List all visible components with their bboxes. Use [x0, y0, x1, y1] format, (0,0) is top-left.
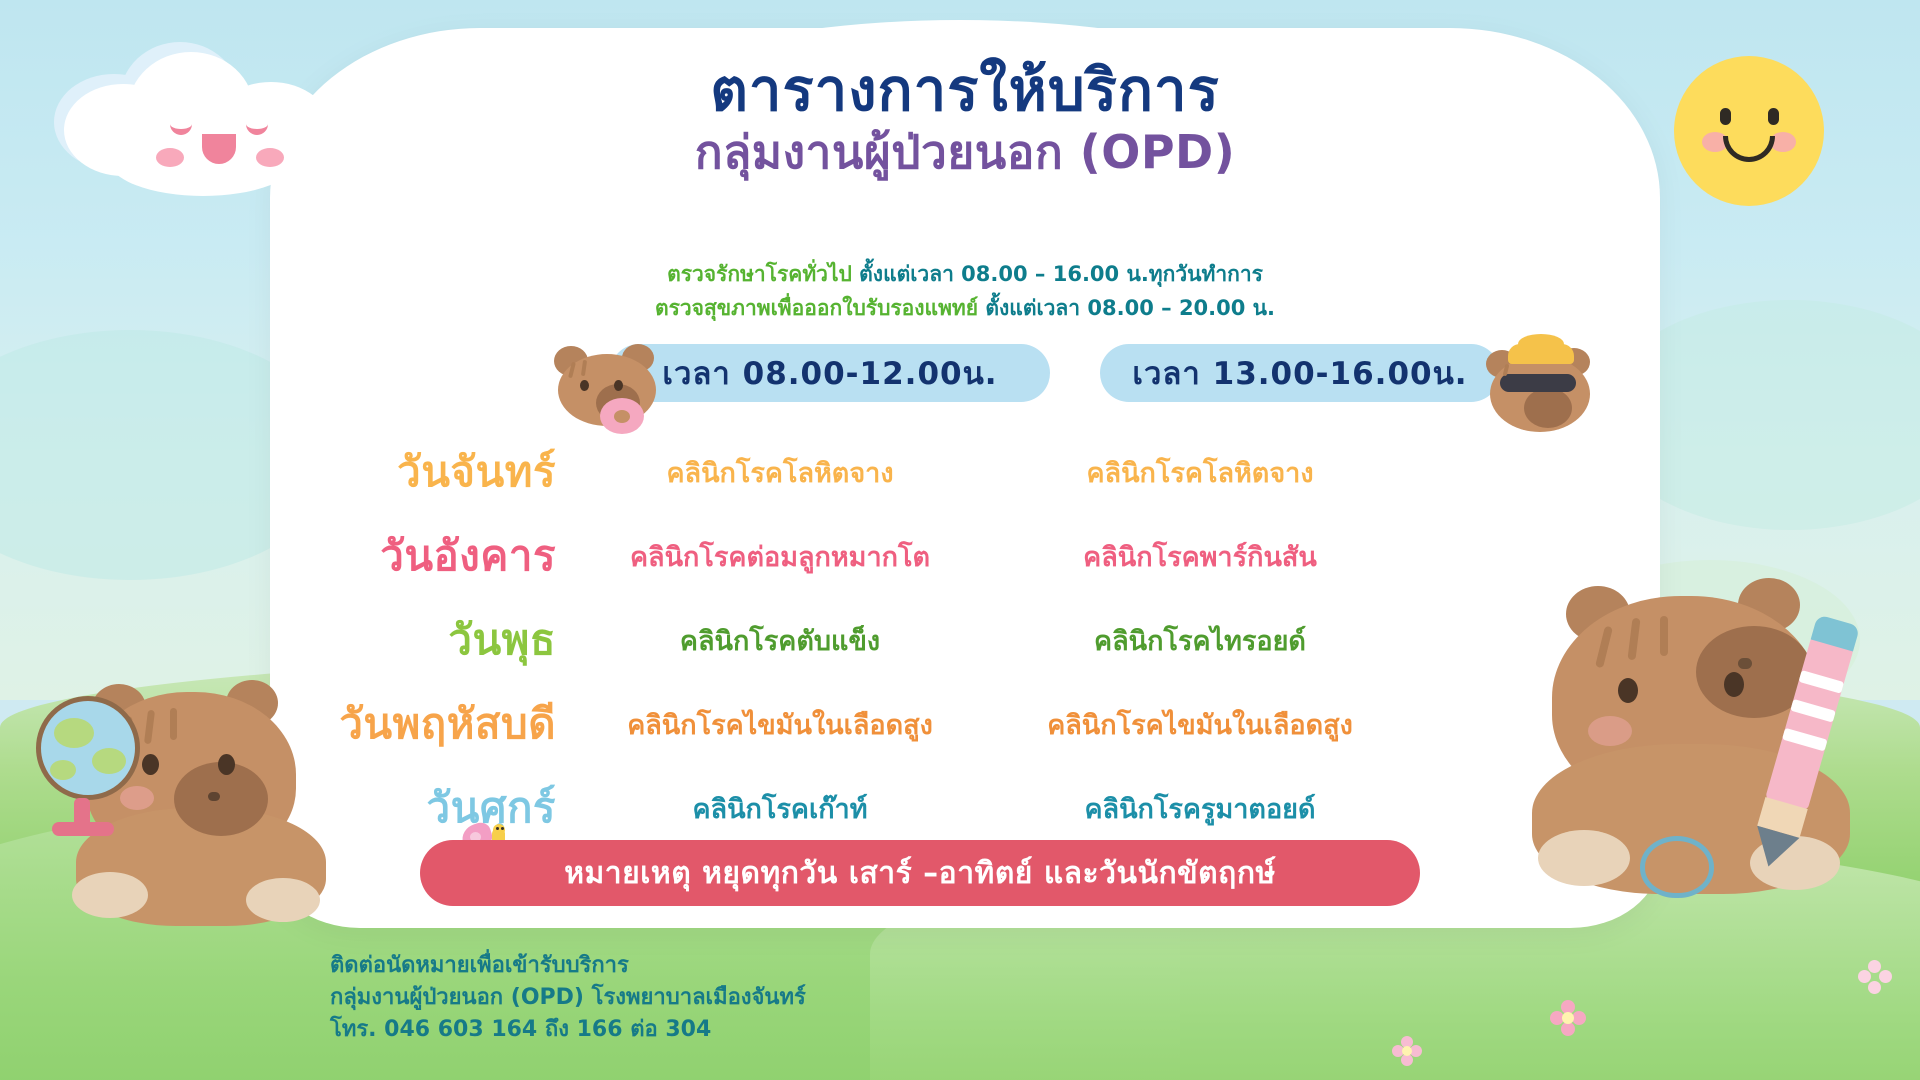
heart-swirl-icon [1640, 836, 1714, 898]
flower-icon [1858, 960, 1892, 994]
clinic-monday-afternoon: คลินิกโรคโลหิตจาง [990, 451, 1410, 494]
service-description-line-1: ตรวจรักษาโรคทั่วไป ตั้งแต่เวลา 08.00 – 1… [270, 258, 1660, 291]
contact-footer: ติดต่อนัดหมายเพื่อเข้ารับบริการ กลุ่มงาน… [330, 950, 1230, 1046]
page-subtitle: กลุ่มงานผู้ป่วยนอก (OPD) [270, 128, 1660, 176]
footer-line-3: โทร. 046 603 164 ถึง 166 ต่อ 304 [330, 1014, 1230, 1046]
desc2-hours: ตั้งแต่เวลา 08.00 – 20.00 น. [985, 296, 1275, 320]
capybara-with-donut-icon [548, 328, 668, 428]
clinic-thursday-morning: คลินิกโรคไขมันในเลือดสูง [570, 703, 990, 746]
globe-icon [30, 690, 150, 840]
time-column-header-afternoon: เวลา 13.00-16.00น. [1100, 344, 1500, 402]
clinic-wednesday-morning: คลินิกโรคตับแข็ง [570, 619, 990, 662]
clinic-friday-morning: คลินิกโรคเก๊าท์ [570, 787, 990, 830]
day-label-monday: วันจันทร์ [270, 439, 570, 505]
table-row: วันอังคาร คลินิกโรคต่อมลูกหมากโต คลินิกโ… [270, 514, 1660, 598]
schedule-table: วันจันทร์ คลินิกโรคโลหิตจาง คลินิกโรคโลห… [270, 430, 1660, 850]
table-row: วันพฤหัสบดี คลินิกโรคไขมันในเลือดสูง คลิ… [270, 682, 1660, 766]
flower-icon [1550, 1000, 1586, 1036]
note-banner: หมายเหตุ หยุดทุกวัน เสาร์ –อาทิตย์ และวั… [420, 840, 1420, 906]
desc1-hours: ตั้งแต่เวลา 08.00 – 16.00 น.ทุกวันทำการ [859, 262, 1263, 286]
clinic-tuesday-morning: คลินิกโรคต่อมลูกหมากโต [570, 535, 990, 578]
clinic-wednesday-afternoon: คลินิกโรคไทรอยด์ [990, 619, 1410, 662]
footer-line-2: กลุ่มงานผู้ป่วยนอก (OPD) โรงพยาบาลเมืองจ… [330, 982, 1230, 1014]
table-row: วันจันทร์ คลินิกโรคโลหิตจาง คลินิกโรคโลห… [270, 430, 1660, 514]
poster-canvas: ตารางการให้บริการ กลุ่มงานผู้ป่วยนอก (OP… [0, 0, 1920, 1080]
service-description-line-2: ตรวจสุขภาพเพื่อออกใบรับรองแพทย์ ตั้งแต่เ… [270, 292, 1660, 325]
sun-icon [1632, 14, 1862, 244]
day-label-tuesday: วันอังคาร [270, 523, 570, 589]
page-title: ตารางการให้บริการ [270, 60, 1660, 121]
footer-line-1: ติดต่อนัดหมายเพื่อเข้ารับบริการ [330, 950, 1230, 982]
time-column-header-morning: เวลา 08.00-12.00น. [610, 344, 1050, 402]
desc1-general: ตรวจรักษาโรคทั่วไป [667, 262, 859, 286]
clinic-tuesday-afternoon: คลินิกโรคพาร์กินสัน [990, 535, 1410, 578]
capybara-with-sunglasses-icon [1478, 326, 1608, 436]
clinic-friday-afternoon: คลินิกโรครูมาตอยด์ [990, 787, 1410, 830]
table-row: วันพุธ คลินิกโรคตับแข็ง คลินิกโรคไทรอยด์ [270, 598, 1660, 682]
clinic-thursday-afternoon: คลินิกโรคไขมันในเลือดสูง [990, 703, 1410, 746]
clinic-monday-morning: คลินิกโรคโลหิตจาง [570, 451, 990, 494]
flower-icon [1392, 1036, 1422, 1066]
desc2-checkup: ตรวจสุขภาพเพื่อออกใบรับรองแพทย์ [655, 296, 985, 320]
